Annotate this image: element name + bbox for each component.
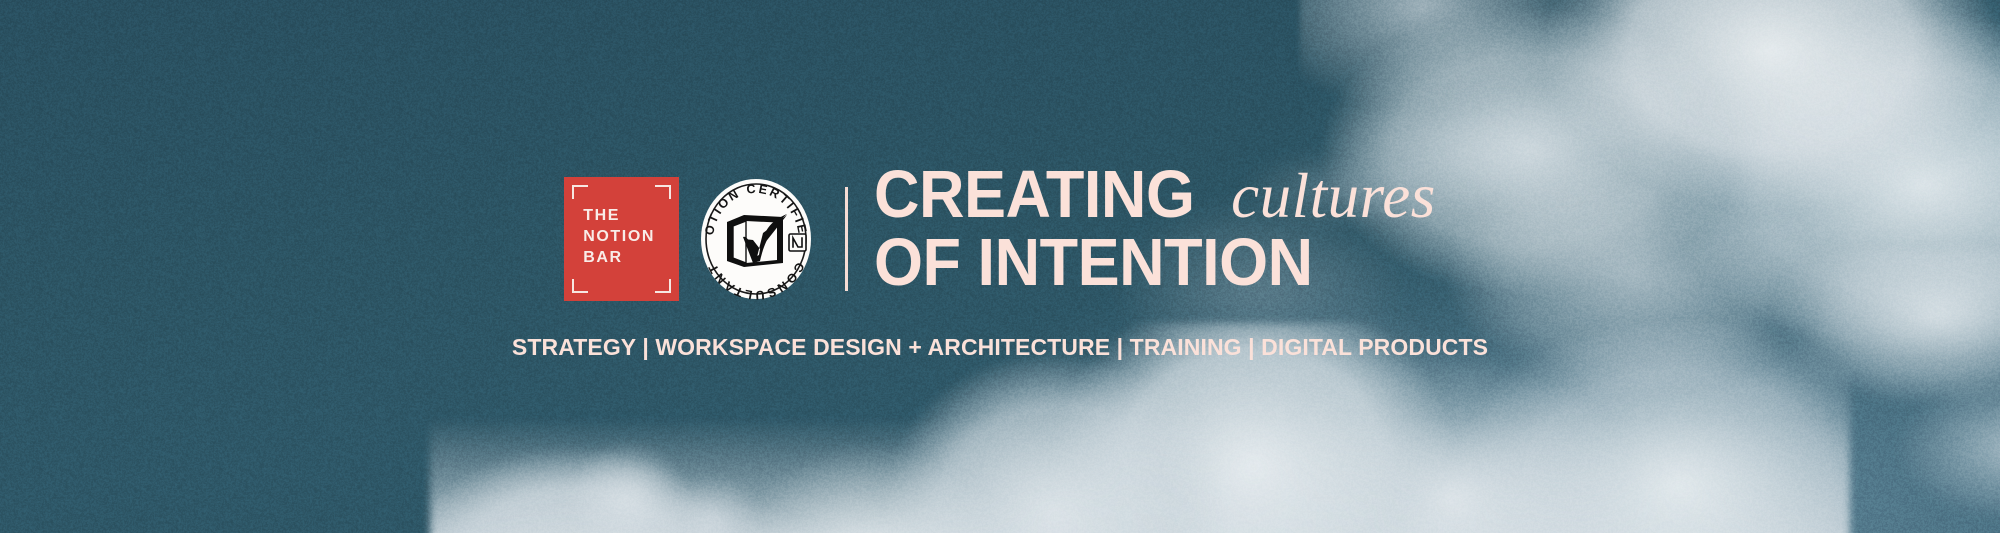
- hero-banner: THE NOTION BAR: [0, 0, 2000, 533]
- headline-of-intention: OF INTENTION: [874, 229, 1313, 297]
- logo-frame-notch-left: [570, 199, 574, 279]
- brand-lockup: THE NOTION BAR: [0, 175, 2000, 301]
- vertical-divider: [845, 187, 848, 291]
- headline-line-2: OF INTENTION: [874, 229, 1436, 297]
- services-tagline: STRATEGY | WORKSPACE DESIGN + ARCHITECTU…: [0, 334, 2000, 361]
- the-notion-bar-logo[interactable]: THE NOTION BAR: [564, 177, 679, 301]
- logo-line-1: THE: [583, 205, 663, 226]
- badge-notion-n-icon: [789, 234, 806, 251]
- logo-frame-notch-right: [669, 199, 673, 279]
- notion-certified-consultant-badge[interactable]: NOTION CERTIFIED CONSULTANT: [697, 177, 815, 301]
- logo-wordmark: THE NOTION BAR: [583, 205, 663, 268]
- headline-cultures: cultures: [1231, 164, 1436, 228]
- logo-line-3: BAR: [583, 247, 663, 268]
- headline: CREATING cultures OF INTENTION: [874, 161, 1436, 297]
- headline-creating: CREATING: [874, 161, 1194, 229]
- logo-line-2: NOTION: [583, 226, 663, 247]
- banner-content: THE NOTION BAR: [0, 0, 2000, 533]
- headline-line-1: CREATING cultures: [874, 161, 1436, 229]
